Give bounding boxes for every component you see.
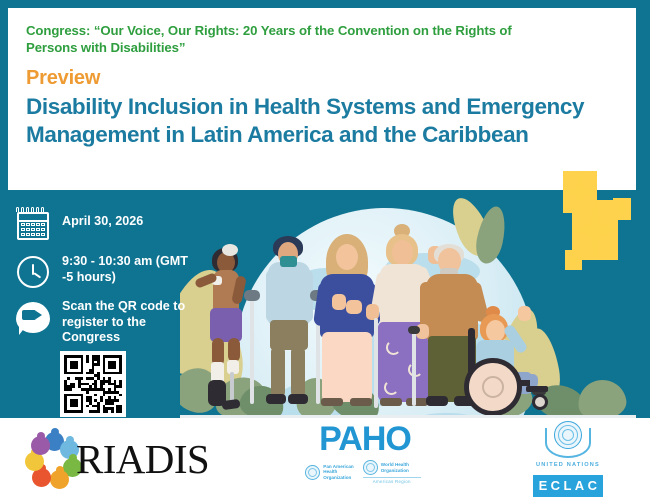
cane-handle bbox=[408, 326, 420, 334]
register-row: Scan the QR code to register to the Cong… bbox=[14, 299, 194, 346]
event-time-text: 9:30 - 10:30 am (GMT -5 hours) bbox=[62, 252, 194, 285]
wheelchair-caster bbox=[532, 394, 548, 410]
event-date-text: April 30, 2026 bbox=[62, 205, 143, 230]
qr-code-matrix bbox=[64, 355, 122, 413]
world-health-organization-mark: World Health Organization Americas Regio… bbox=[363, 460, 425, 484]
page-title: Disability Inclusion in Health Systems a… bbox=[26, 93, 586, 148]
congress-subtitle: Congress: “Our Voice, Our Rights: 20 Yea… bbox=[26, 22, 566, 56]
crutch-cuff bbox=[244, 290, 260, 301]
wheelchair-footplate bbox=[526, 386, 548, 392]
americas-region-label: Americas Region bbox=[363, 477, 421, 484]
qr-code[interactable] bbox=[60, 351, 126, 417]
flyer-canvas: Congress: “Our Voice, Our Rights: 20 Yea… bbox=[0, 0, 650, 502]
logo-footer: RIADIS PAHO Pan American Health Organiza… bbox=[0, 418, 650, 502]
paho-wordmark: PAHO bbox=[290, 422, 440, 456]
paho-logo: PAHO Pan American Health Organization Wo… bbox=[290, 422, 440, 496]
calendar-icon bbox=[14, 205, 54, 245]
video-chat-bubble-icon bbox=[14, 299, 54, 339]
circle-of-people-icon bbox=[26, 432, 82, 488]
register-text: Scan the QR code to register to the Cong… bbox=[62, 299, 194, 346]
clock-icon bbox=[14, 252, 54, 292]
event-date-row: April 30, 2026 bbox=[14, 205, 194, 245]
group-of-people-with-disabilities-illustration bbox=[180, 190, 636, 418]
pan-american-health-organization-mark: Pan American Health Organization bbox=[305, 460, 353, 484]
riadis-logo: RIADIS bbox=[22, 426, 272, 488]
header-card: Congress: “Our Voice, Our Rights: 20 Yea… bbox=[8, 8, 636, 190]
event-time-row: 9:30 - 10:30 am (GMT -5 hours) bbox=[14, 252, 194, 292]
who-emblem-icon bbox=[363, 460, 378, 475]
united-nations-emblem-icon bbox=[545, 420, 591, 460]
riadis-wordmark: RIADIS bbox=[76, 435, 209, 483]
united-nations-caption: UNITED NATIONS bbox=[520, 462, 616, 468]
event-details: April 30, 2026 9:30 - 10:30 am (GMT -5 h… bbox=[14, 205, 194, 353]
paho-org-line: Organization bbox=[323, 475, 353, 480]
un-eclac-logo: UNITED NATIONS ECLAC bbox=[520, 420, 616, 500]
leaf-shape bbox=[575, 377, 628, 418]
cane bbox=[374, 318, 378, 408]
who-org-line: World Health bbox=[381, 462, 409, 467]
who-org-line: Organization bbox=[381, 468, 409, 473]
eclac-wordmark: ECLAC bbox=[533, 475, 603, 497]
preview-label: Preview bbox=[26, 66, 618, 90]
crutch bbox=[250, 296, 254, 404]
cane bbox=[412, 330, 416, 406]
paho-emblem-icon bbox=[305, 465, 320, 480]
